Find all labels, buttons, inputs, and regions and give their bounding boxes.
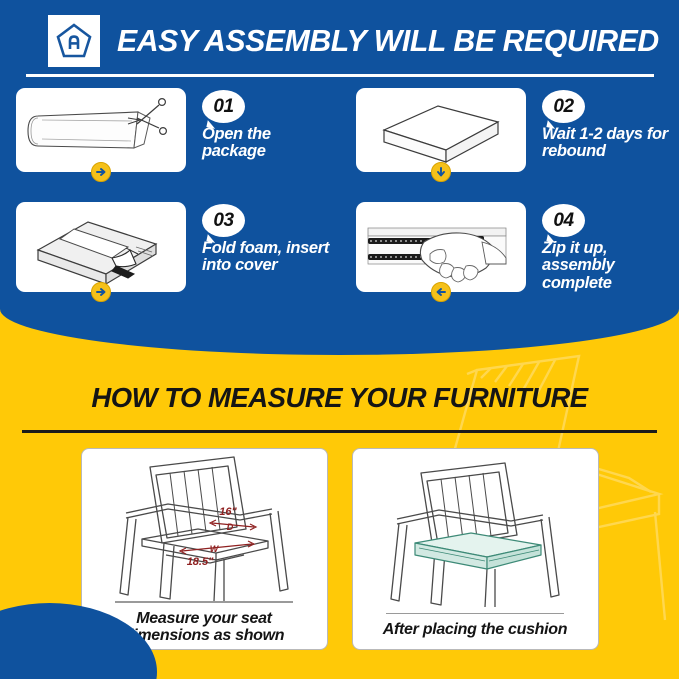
arrow-right-icon [91, 282, 111, 302]
arrow-right-icon [91, 162, 111, 182]
step-item-04: 04 Zip it up, assembly complete [339, 202, 679, 292]
arrow-left-icon [431, 282, 451, 302]
dimension-width-value: 18.5" [187, 556, 214, 568]
step-row: 01 Open the package [0, 88, 679, 172]
step-number: 04 [553, 210, 573, 232]
step-row: 03 Fold foam, insert into cover [0, 202, 679, 292]
hand-zipping-zipper-icon [356, 202, 526, 292]
card-caption: After placing the cushion [377, 614, 574, 649]
step-number: 03 [213, 210, 233, 232]
step-label: Wait 1-2 days for rebound [542, 126, 668, 161]
house-pentagon-icon [48, 15, 100, 67]
page-title: EASY ASSEMBLY WILL BE REQUIRED [117, 24, 659, 59]
step-text-03: 03 Fold foam, insert into cover [202, 202, 329, 275]
step-number: 01 [213, 96, 233, 118]
step-item-02: 02 Wait 1-2 days for rebound [339, 88, 679, 172]
arrow-down-icon [431, 162, 451, 182]
step-number-badge: 01 [202, 90, 245, 123]
measure-section-title: HOW TO MEASURE YOUR FURNITURE [0, 382, 679, 414]
foam-into-cover-icon [16, 202, 186, 292]
step-text-02: 02 Wait 1-2 days for rebound [542, 88, 668, 161]
steps-grid: 01 Open the package [0, 88, 679, 292]
assembly-section: EASY ASSEMBLY WILL BE REQUIRED [0, 0, 679, 355]
step-item-03: 03 Fold foam, insert into cover [0, 202, 339, 292]
dimension-depth-axis: D [227, 522, 234, 532]
measure-divider [22, 430, 657, 433]
step-text-01: 01 Open the package [202, 88, 271, 161]
dimension-depth-value: 16" [219, 506, 237, 518]
step-label: Open the package [202, 126, 271, 161]
infographic-page: EASY ASSEMBLY WILL BE REQUIRED [0, 0, 679, 679]
step-number-badge: 04 [542, 204, 585, 237]
step-number: 02 [553, 96, 573, 118]
step-text-04: 04 Zip it up, assembly complete [542, 202, 679, 292]
step-number-badge: 02 [542, 90, 585, 123]
step-item-01: 01 Open the package [0, 88, 339, 172]
measure-card-cushion: After placing the cushion [352, 448, 599, 650]
rolled-package-with-scissors-icon [16, 88, 186, 172]
chair-with-dimensions-icon: 16" D W 18.5" [82, 449, 327, 601]
step-number-badge: 03 [202, 204, 245, 237]
header: EASY ASSEMBLY WILL BE REQUIRED [0, 8, 679, 74]
flat-foam-cushion-icon [356, 88, 526, 172]
step-label: Fold foam, insert into cover [202, 240, 329, 275]
step-label: Zip it up, assembly complete [542, 240, 679, 292]
header-divider [26, 74, 654, 77]
chair-with-cushion-icon [353, 449, 598, 613]
